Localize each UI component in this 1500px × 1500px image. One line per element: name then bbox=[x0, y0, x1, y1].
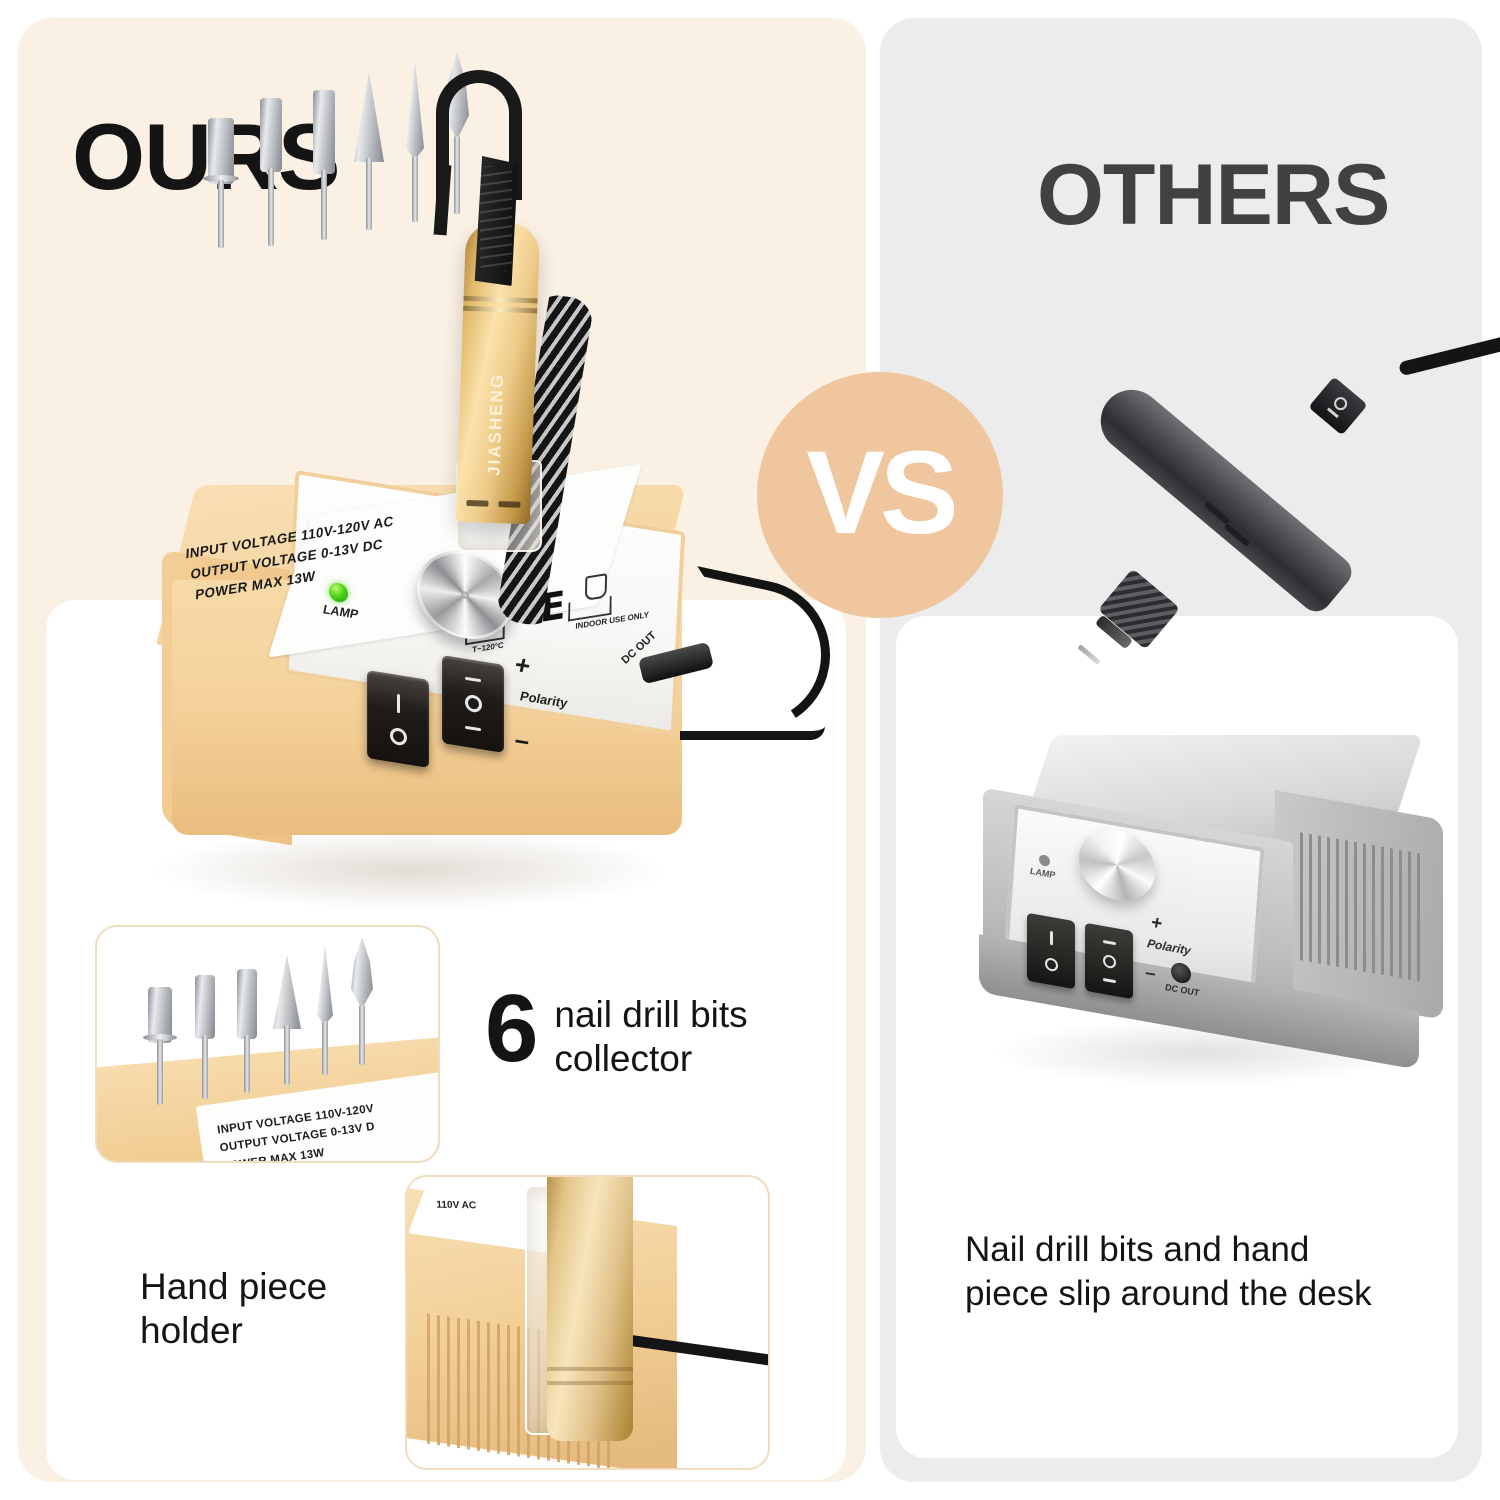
others-control-box: LAMP + Polarity – DC OUT bbox=[975, 735, 1445, 1055]
bit-head bbox=[354, 72, 384, 162]
inset-top-sticker-text: 110V AC bbox=[436, 1200, 476, 1212]
bit-shank bbox=[244, 1035, 250, 1093]
bit-shank bbox=[366, 158, 372, 230]
inset-bit-needle bbox=[310, 945, 340, 1075]
handpiece-brand-label: JIASHENG bbox=[484, 373, 508, 477]
switch-circle-mark bbox=[1103, 953, 1116, 968]
switch-bar-mark bbox=[1103, 977, 1116, 982]
inset-spec-text: INPUT VOLTAGE 110V-120V OUTPUT VOLTAGE 0… bbox=[216, 1100, 380, 1163]
handpiece-vent-slot bbox=[466, 500, 488, 507]
bit-head bbox=[317, 945, 333, 1025]
feature-collector-text: 6 nail drill bits collector bbox=[485, 985, 748, 1080]
others-polarity-switch[interactable] bbox=[1085, 923, 1133, 999]
bit-shank bbox=[202, 1035, 208, 1099]
dc-power-cable-segment bbox=[680, 700, 825, 740]
bit-shank bbox=[322, 1021, 328, 1075]
power-switch[interactable] bbox=[367, 670, 429, 768]
bit-head bbox=[351, 937, 373, 1009]
others-caption-text: Nail drill bits and hand piece slip arou… bbox=[965, 1228, 1372, 1316]
inset-handpiece-holder: 110V AC bbox=[405, 1175, 770, 1470]
others-handpiece-illustration bbox=[1080, 330, 1480, 690]
bit-head bbox=[260, 98, 282, 172]
switch-line-mark bbox=[1050, 931, 1053, 946]
holder-caption-line2: holder bbox=[140, 1310, 243, 1351]
inset-handpiece-band bbox=[547, 1381, 633, 1385]
collector-caption-line1: nail drill bits bbox=[554, 994, 747, 1035]
bit-head bbox=[313, 90, 335, 174]
inset-handpiece-band bbox=[547, 1367, 633, 1371]
others-power-switch[interactable] bbox=[1027, 913, 1075, 989]
switch-circle-mark bbox=[1331, 394, 1349, 412]
inset-bit-cone bbox=[272, 955, 302, 1085]
feature-holder-text: Hand piece holder bbox=[140, 1265, 327, 1354]
drill-bit-cylinder-1 bbox=[254, 98, 288, 246]
handpiece-vent-slot bbox=[498, 501, 520, 508]
bit-head bbox=[237, 969, 257, 1039]
bit-shank bbox=[321, 170, 327, 240]
switch-bar-mark bbox=[465, 677, 481, 683]
bit-shank bbox=[412, 156, 418, 222]
bit-head bbox=[273, 955, 301, 1029]
panel-others-title: OTHERS bbox=[1037, 152, 1389, 238]
others-box-vents bbox=[1300, 832, 1422, 982]
handpiece-ring bbox=[464, 296, 538, 304]
drill-bit-needle bbox=[398, 60, 432, 222]
bit-head bbox=[208, 118, 234, 184]
vs-label: VS bbox=[806, 434, 953, 552]
inset-bit-cylinder-1 bbox=[190, 975, 220, 1099]
inset-drill-bits-collector: INPUT VOLTAGE 110V-120V OUTPUT VOLTAGE 0… bbox=[95, 925, 440, 1163]
switch-circle-mark bbox=[390, 726, 407, 746]
drill-bit-barrel bbox=[204, 118, 238, 248]
bit-head bbox=[148, 987, 172, 1043]
collector-count: 6 bbox=[485, 985, 538, 1073]
others-pen-bit bbox=[1077, 644, 1100, 665]
switch-line-mark bbox=[397, 693, 400, 712]
collector-caption-line2: collector bbox=[554, 1038, 692, 1079]
inset-bit-flame bbox=[347, 937, 377, 1065]
inset-bit-barrel bbox=[145, 987, 175, 1105]
inset-bit-cylinder-2 bbox=[232, 969, 262, 1093]
switch-circle-mark bbox=[465, 694, 482, 714]
switch-circle-mark bbox=[1045, 957, 1058, 972]
handpiece-ring bbox=[463, 306, 537, 314]
bit-shank bbox=[218, 180, 224, 248]
collector-caption: nail drill bits collector bbox=[554, 985, 747, 1080]
bit-shank bbox=[359, 1005, 365, 1065]
inset-handpiece-in-holder bbox=[547, 1175, 633, 1441]
switch-bar-mark bbox=[1103, 939, 1116, 944]
bit-shank bbox=[157, 1039, 163, 1105]
switch-bar-mark bbox=[465, 726, 481, 732]
drill-bit-cone bbox=[352, 72, 386, 230]
ours-product-illustration: JIASHENG INPUT VOLTAGE 110V-120V AC OUTP… bbox=[120, 60, 820, 890]
bit-head bbox=[406, 60, 424, 160]
others-caption-line2: piece slip around the desk bbox=[965, 1274, 1372, 1313]
holder-caption-line1: Hand piece bbox=[140, 1266, 327, 1307]
polarity-switch[interactable] bbox=[442, 655, 504, 753]
comparison-infographic: OURS OTHERS bbox=[0, 0, 1500, 1500]
bit-shank bbox=[284, 1025, 290, 1085]
vs-badge: VS bbox=[757, 372, 1003, 618]
bit-head bbox=[195, 975, 215, 1039]
drill-bit-cylinder-2 bbox=[307, 90, 341, 240]
bit-shank bbox=[268, 168, 274, 246]
others-pen-power-switch[interactable] bbox=[1308, 377, 1367, 436]
others-caption-line1: Nail drill bits and hand bbox=[965, 1230, 1309, 1269]
others-pen-cable bbox=[1398, 334, 1500, 377]
